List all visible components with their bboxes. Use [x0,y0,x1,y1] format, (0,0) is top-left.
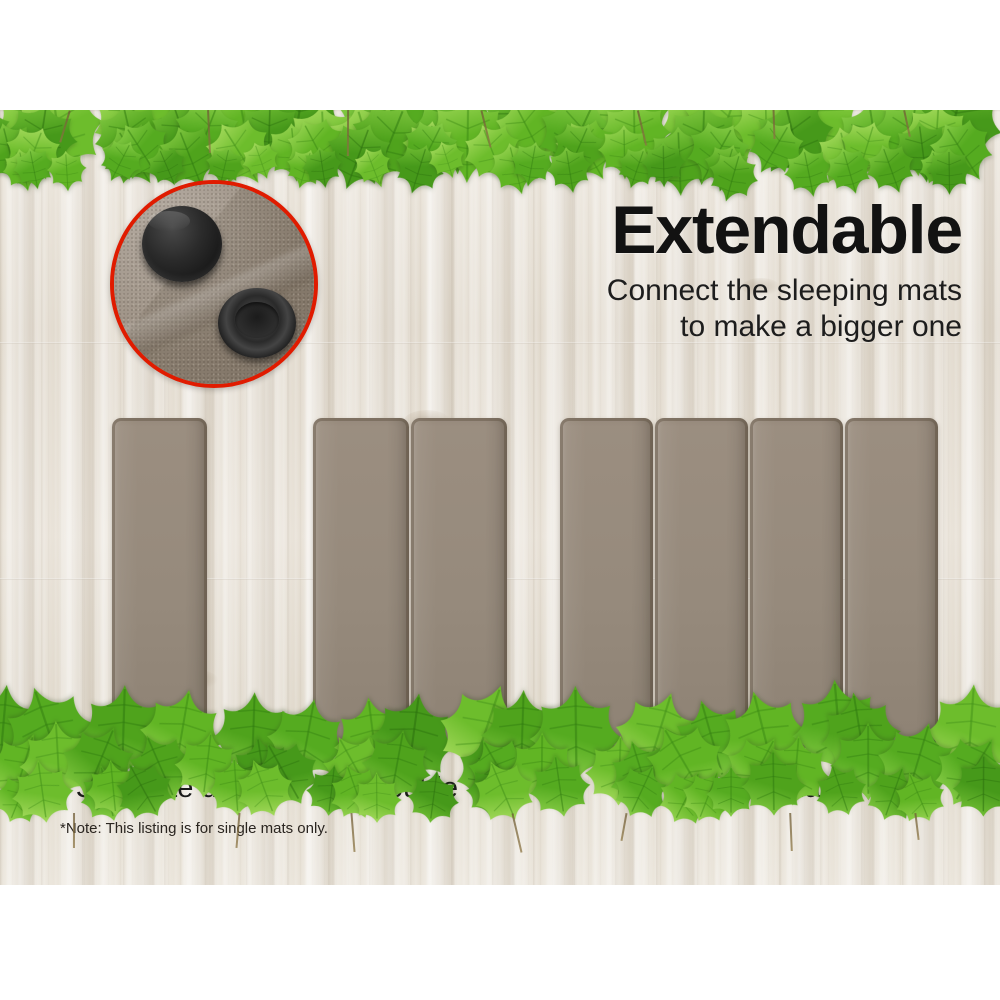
mat-panel [845,418,938,748]
snap-dot [198,740,213,755]
snap-dot [554,740,569,755]
subtitle: Connect the sleeping mats to make a bigg… [422,273,962,346]
mat-panel [112,418,207,748]
footnote: *Note: This listing is for single mats o… [60,820,328,837]
infographic-canvas: Extendable Connect the sleeping mats to … [0,0,1000,1000]
mat-group-multiple [560,418,938,748]
mat-panel [750,418,843,748]
headline-block: Extendable Connect the sleeping mats to … [422,198,962,346]
snap-socket-icon [218,288,296,358]
snap-dot [929,740,944,755]
snap-dot [307,740,322,755]
subtitle-line-1: Connect the sleeping mats [422,273,962,310]
subtitle-line-2: to make a bigger one [422,309,962,346]
product-photo-panel: Extendable Connect the sleeping mats to … [0,110,1000,885]
mat-group-separate [112,418,207,748]
caption-separate: Separate use [72,772,252,805]
snap-cap-icon [142,206,222,282]
caption-double: Double [322,772,502,805]
mat-panel [655,418,748,748]
mat-panel [411,418,507,748]
caption-multiple: Multiple mats [646,772,870,805]
page-title: Extendable [422,198,962,263]
mat-panel [560,418,653,748]
snap-fastener-closeup-inset [110,180,318,388]
snap-dot [106,740,121,755]
mat-group-double [313,418,507,748]
mat-panel [313,418,409,748]
snap-dot [498,740,513,755]
